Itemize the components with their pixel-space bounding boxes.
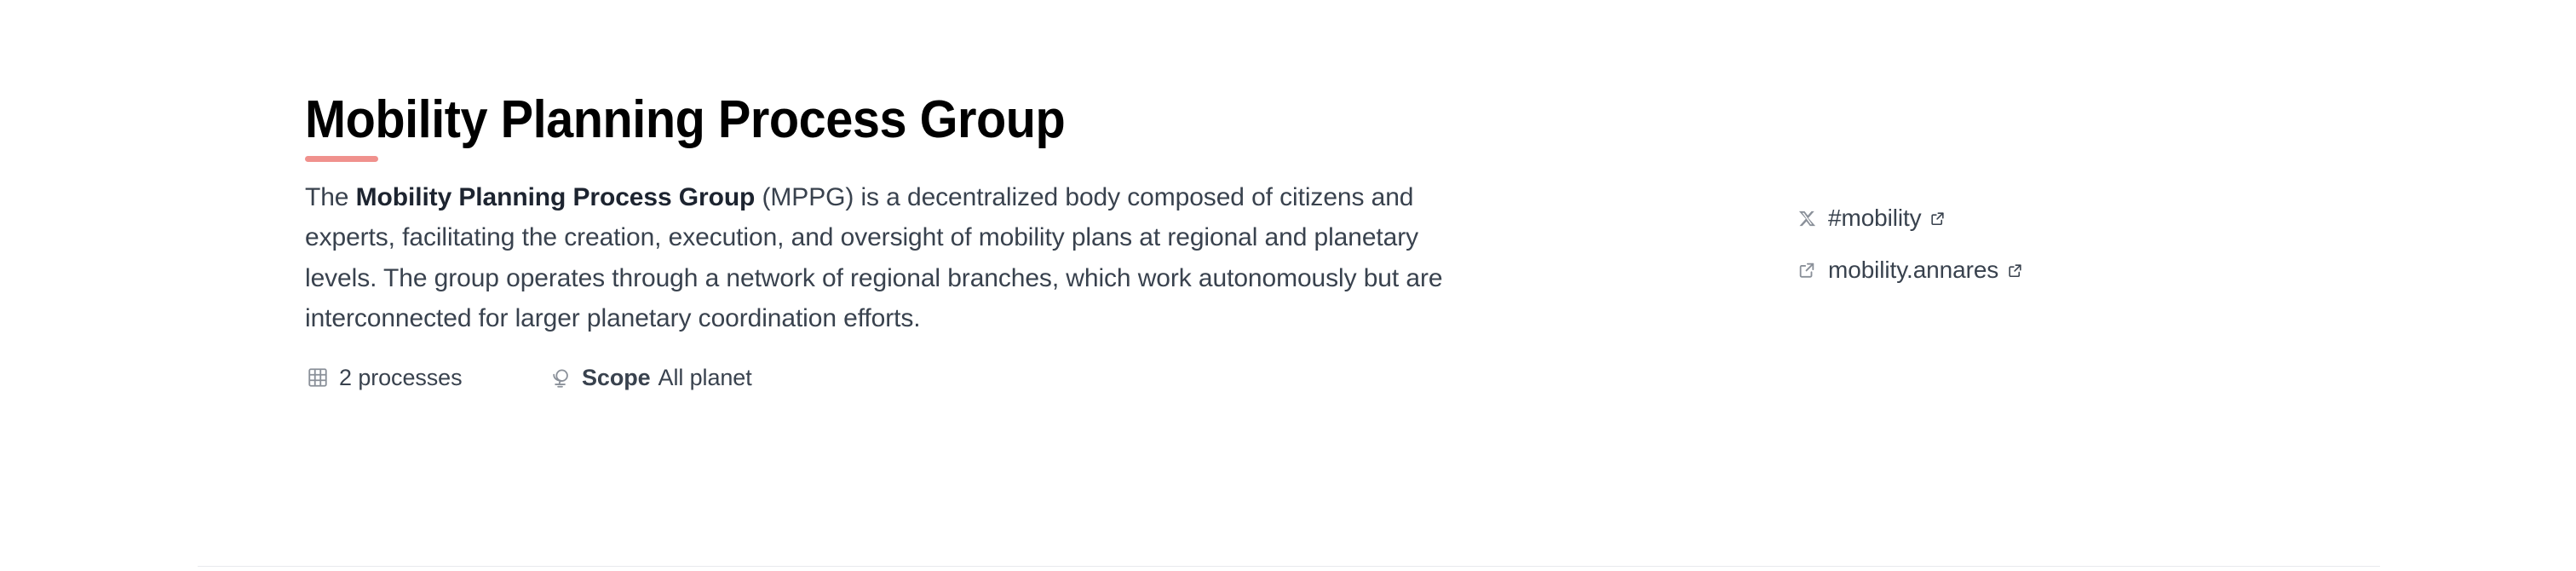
external-link-icon <box>2006 262 2023 279</box>
title-accent-bar <box>305 156 378 162</box>
link-x-mobility[interactable]: #mobility <box>1796 205 2023 232</box>
external-links-column: #mobility mobility.annares <box>1796 205 2023 284</box>
x-twitter-icon <box>1796 207 1818 229</box>
meta-processes-text: 2 processes <box>339 365 462 391</box>
description-lead: The <box>305 183 356 211</box>
link-mobility-annares[interactable]: mobility.annares <box>1796 257 2023 284</box>
meta-item-scope: Scope All planet <box>548 365 752 391</box>
external-link-icon <box>1796 259 1818 281</box>
entity-summary-page: Mobility Planning Process Group The Mobi… <box>0 0 2576 571</box>
page-title: Mobility Planning Process Group <box>305 92 1414 149</box>
meta-scope-value: All planet <box>658 365 752 391</box>
entity-description: The Mobility Planning Process Group (MPP… <box>305 177 1459 339</box>
link-mobility-annares-label: mobility.annares <box>1828 257 1998 284</box>
link-x-mobility-label: #mobility <box>1828 205 1922 232</box>
meta-scope-label: Scope <box>582 365 651 391</box>
external-link-icon <box>1929 210 1946 227</box>
entity-content-column: Mobility Planning Process Group The Mobi… <box>305 92 1498 391</box>
meta-item-processes[interactable]: 2 processes <box>305 365 548 391</box>
globe-stand-icon <box>548 365 573 390</box>
section-divider <box>198 566 2380 567</box>
description-entity-name: Mobility Planning Process Group <box>356 183 756 211</box>
entity-meta-row: 2 processes Scope All planet <box>305 365 1498 391</box>
grid-table-icon <box>305 365 331 390</box>
